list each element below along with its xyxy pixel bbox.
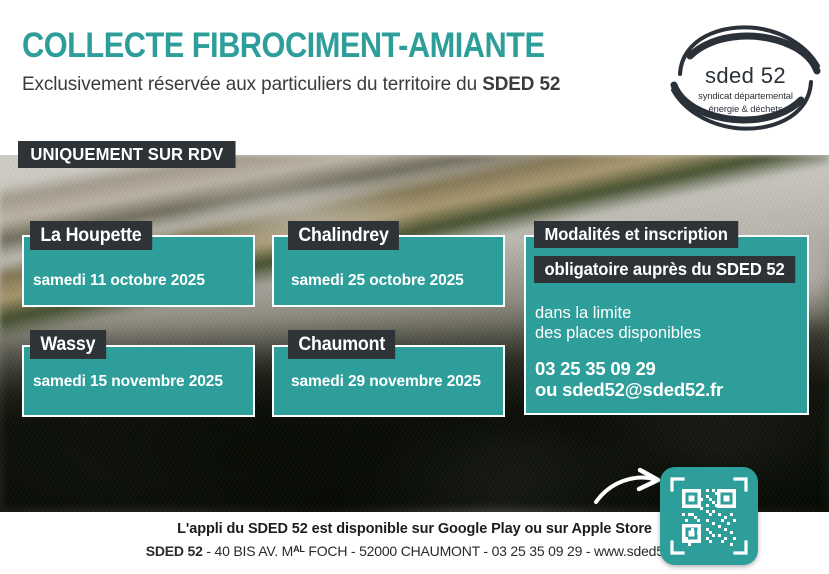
- logo-tagline-line1: syndicat départemental: [668, 90, 823, 101]
- collection-date-chalindrey: samedi 25 octobre 2025: [291, 272, 464, 290]
- info-email[interactable]: ou sded52@sded52.fr: [535, 379, 723, 400]
- qr-code-link[interactable]: [660, 467, 758, 565]
- city-badge-chaumont: Chaumont: [288, 330, 395, 359]
- logo-tagline-line2: énergie & déchets: [668, 103, 823, 114]
- header: COLLECTE FIBROCIMENT-AMIANTE Exclusiveme…: [0, 0, 829, 140]
- collection-date-chaumont: samedi 29 novembre 2025: [291, 373, 481, 391]
- logo-name: sded 52: [668, 63, 823, 89]
- rdv-only-badge: UNIQUEMENT SUR RDV: [18, 141, 236, 168]
- footer-address-superscript: AL: [293, 544, 305, 554]
- sded-logo: sded 52 syndicat départemental énergie &…: [668, 22, 823, 134]
- info-limit-line2: des places disponibles: [535, 323, 701, 343]
- footer-org-name: SDED 52: [146, 543, 203, 559]
- page-title: COLLECTE FIBROCIMENT-AMIANTE: [22, 28, 544, 63]
- footer-address-part2: FOCH - 52000 CHAUMONT - 03 25 35 09 29 -…: [305, 543, 684, 559]
- footer-address-part1: - 40 BIS AV. M: [203, 543, 293, 559]
- city-badge-la-houpette: La Houpette: [30, 221, 152, 250]
- collection-date-la-houpette: samedi 11 octobre 2025: [33, 272, 205, 290]
- info-badge-line1: Modalités et inscription: [534, 221, 738, 248]
- qr-code-icon: [660, 467, 758, 565]
- city-badge-chalindrey: Chalindrey: [288, 221, 399, 250]
- info-badge-line2: obligatoire auprès du SDED 52: [534, 256, 795, 283]
- subtitle-text: Exclusivement réservée aux particuliers …: [22, 73, 482, 95]
- subtitle-emphasis: SDED 52: [482, 73, 560, 95]
- collection-date-wassy: samedi 15 novembre 2025: [33, 373, 223, 391]
- info-phone[interactable]: 03 25 35 09 29: [535, 358, 656, 379]
- qr-code-card: [660, 467, 758, 565]
- city-badge-wassy: Wassy: [30, 330, 106, 359]
- info-limit-line1: dans la limite: [535, 303, 631, 323]
- page-subtitle: Exclusivement réservée aux particuliers …: [22, 73, 560, 96]
